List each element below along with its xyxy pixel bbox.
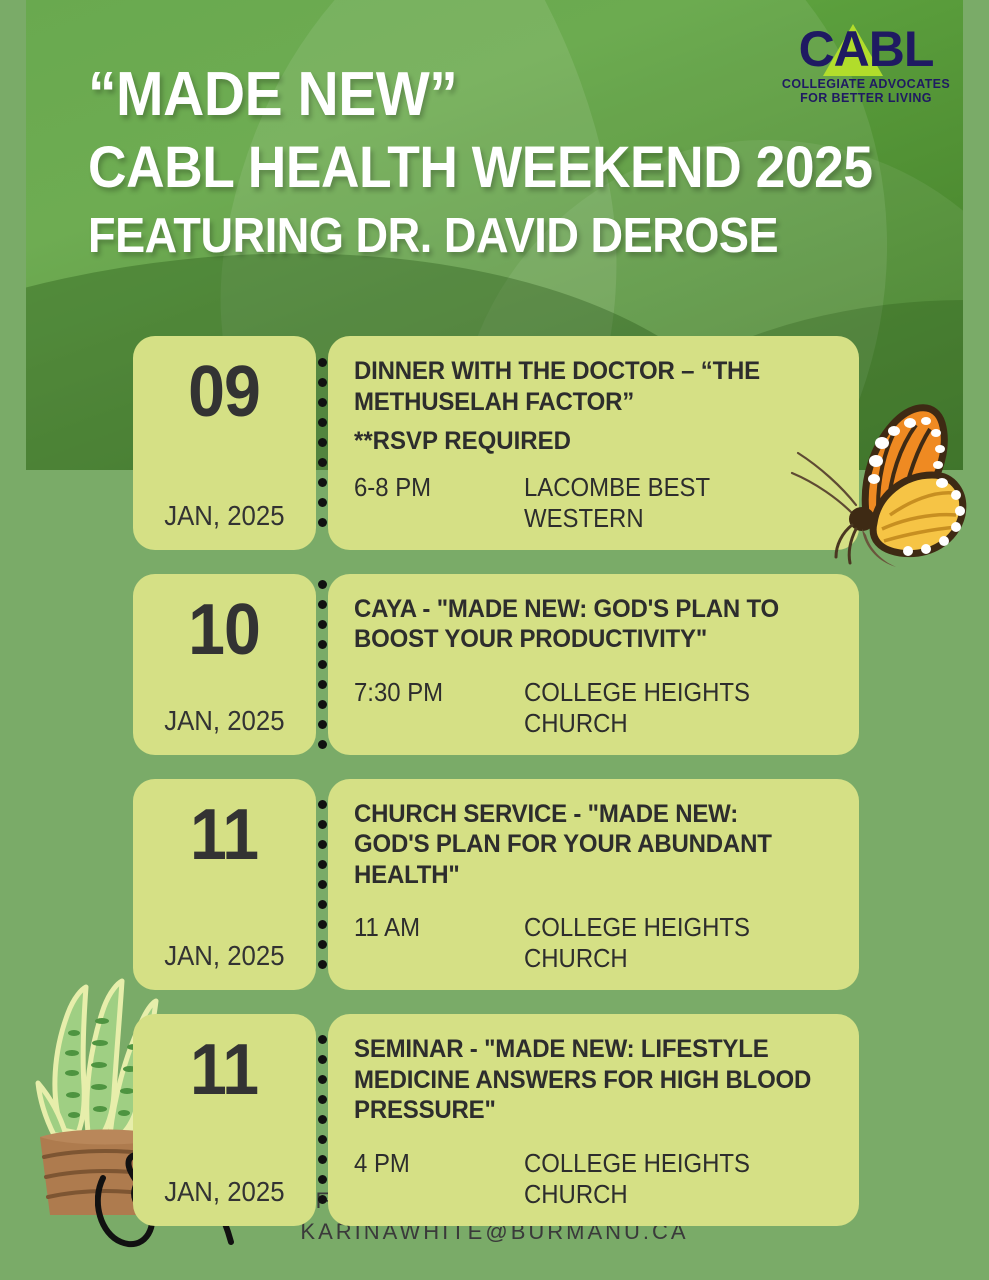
event-row[interactable]: 10 JAN, 2025 CAYA - "MADE NEW: GOD'S PLA…: [133, 574, 859, 755]
event-title: SEMINAR - "MADE NEW: LIFESTYLE MEDICINE …: [354, 1034, 818, 1126]
event-time: 6-8 PM: [354, 472, 510, 503]
events-list: 09 JAN, 2025 DINNER WITH THE DOCTOR – “T…: [133, 336, 859, 1250]
perforation-dots: [316, 336, 328, 550]
perforation-dots: [316, 779, 328, 991]
event-time: 11 AM: [354, 912, 510, 943]
event-poster: CABL COLLEGIATE ADVOCATES FOR BETTER LIV…: [0, 0, 989, 1280]
event-day: 11: [190, 801, 258, 869]
logo-tagline-line2: FOR BETTER LIVING: [771, 91, 961, 105]
event-time: 7:30 PM: [354, 677, 510, 708]
logo-tagline-line1: COLLEGIATE ADVOCATES: [771, 77, 961, 91]
logo-wordmark: CABL: [771, 22, 961, 76]
event-info-card: SEMINAR - "MADE NEW: LIFESTYLE MEDICINE …: [328, 1014, 859, 1226]
poster-title-sub: CABL HEALTH WEEKEND 2025: [88, 137, 873, 200]
event-info-card: CAYA - "MADE NEW: GOD'S PLAN TO BOOST YO…: [328, 574, 859, 755]
event-place: LACOMBE BEST WESTERN: [524, 472, 812, 534]
event-day: 09: [189, 358, 261, 426]
event-meta: 6-8 PM LACOMBE BEST WESTERN: [354, 472, 837, 534]
event-info-card: DINNER WITH THE DOCTOR – “THE METHUSELAH…: [328, 336, 859, 550]
event-date-card: 11 JAN, 2025: [133, 1014, 316, 1226]
event-month: JAN, 2025: [164, 1176, 284, 1208]
event-row[interactable]: 09 JAN, 2025 DINNER WITH THE DOCTOR – “T…: [133, 336, 859, 550]
event-month: JAN, 2025: [164, 705, 284, 737]
event-day: 11: [190, 1036, 258, 1104]
event-month: JAN, 2025: [164, 500, 284, 532]
perforation-dots: [316, 574, 328, 755]
logo-tagline: COLLEGIATE ADVOCATES FOR BETTER LIVING: [771, 77, 961, 105]
event-month: JAN, 2025: [164, 940, 284, 972]
event-day: 10: [189, 596, 261, 664]
event-meta: 11 AM COLLEGE HEIGHTS CHURCH: [354, 912, 837, 974]
event-time: 4 PM: [354, 1148, 510, 1179]
event-title: CHURCH SERVICE - "MADE NEW: GOD'S PLAN F…: [354, 799, 818, 891]
event-date-card: 11 JAN, 2025: [133, 779, 316, 991]
logo-wordmark-text: CABL: [799, 21, 934, 77]
event-title: DINNER WITH THE DOCTOR – “THE METHUSELAH…: [354, 356, 818, 417]
event-note: **RSVP REQUIRED: [354, 425, 818, 458]
event-meta: 7:30 PM COLLEGE HEIGHTS CHURCH: [354, 677, 837, 739]
event-row[interactable]: 11 JAN, 2025 SEMINAR - "MADE NEW: LIFEST…: [133, 1014, 859, 1226]
event-info-card: CHURCH SERVICE - "MADE NEW: GOD'S PLAN F…: [328, 779, 859, 991]
poster-title-featuring: FEATURING DR. DAVID DEROSE: [88, 210, 873, 263]
event-place: COLLEGE HEIGHTS CHURCH: [524, 1148, 812, 1210]
event-row[interactable]: 11 JAN, 2025 CHURCH SERVICE - "MADE NEW:…: [133, 779, 859, 991]
event-place: COLLEGE HEIGHTS CHURCH: [524, 912, 812, 974]
event-date-card: 09 JAN, 2025: [133, 336, 316, 550]
event-title: CAYA - "MADE NEW: GOD'S PLAN TO BOOST YO…: [354, 594, 818, 655]
poster-title-main: “MADE NEW”: [88, 62, 873, 129]
perforation-dots: [316, 1014, 328, 1226]
event-meta: 4 PM COLLEGE HEIGHTS CHURCH: [354, 1148, 837, 1210]
cabl-logo: CABL COLLEGIATE ADVOCATES FOR BETTER LIV…: [771, 22, 961, 105]
event-place: COLLEGE HEIGHTS CHURCH: [524, 677, 812, 739]
event-date-card: 10 JAN, 2025: [133, 574, 316, 755]
